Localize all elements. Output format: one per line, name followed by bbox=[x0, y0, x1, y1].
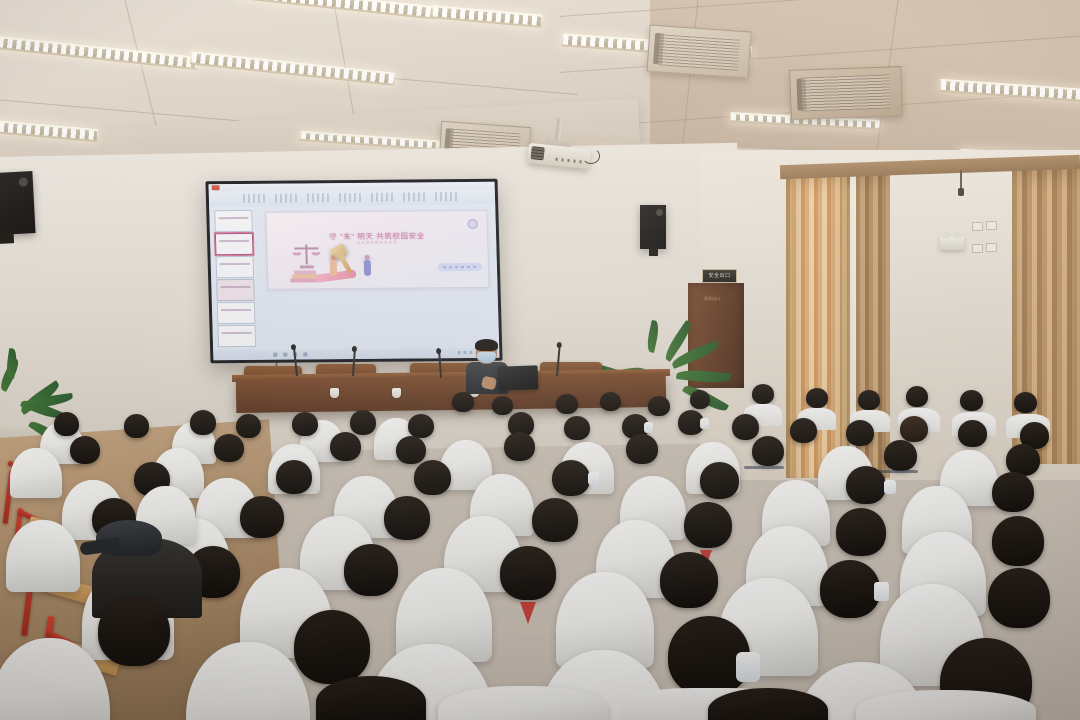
audience-head bbox=[700, 462, 739, 499]
wall-speaker-left bbox=[0, 171, 36, 235]
audience-head bbox=[532, 498, 578, 542]
audience-head bbox=[70, 436, 100, 464]
ac-cassette-vent bbox=[789, 66, 903, 120]
audience-head bbox=[124, 414, 149, 438]
audience-head bbox=[344, 544, 398, 596]
audience-head bbox=[906, 386, 928, 407]
face-mask-icon bbox=[588, 472, 599, 485]
chair-cover bbox=[10, 448, 62, 498]
audience-head bbox=[556, 394, 578, 414]
audience-head bbox=[752, 436, 784, 466]
baseball-cap bbox=[96, 520, 162, 556]
audience-head bbox=[276, 460, 312, 494]
exit-sign-text: 安全出口 bbox=[708, 274, 730, 279]
audience bbox=[0, 370, 1080, 720]
audience-head bbox=[958, 420, 987, 447]
slide-thumbnail-pane[interactable] bbox=[209, 206, 260, 350]
audience-head bbox=[992, 472, 1034, 512]
uniform-collar bbox=[744, 466, 784, 469]
projection-screen: 守 "未" 明天 共筑校园安全 法治宣传教育进校园 bbox=[205, 179, 502, 363]
slide-caption-pill bbox=[438, 263, 482, 271]
screen-surface: 守 "未" 明天 共筑校园安全 法治宣传教育进校园 bbox=[209, 182, 500, 360]
audience-head bbox=[790, 418, 817, 443]
audience-head bbox=[752, 384, 774, 404]
chair-cover bbox=[438, 686, 608, 720]
face-mask-icon bbox=[736, 652, 760, 682]
scales-of-justice-icon bbox=[293, 244, 320, 268]
exit-sign: 安全出口 bbox=[702, 269, 737, 283]
audience-head bbox=[552, 460, 590, 496]
wall-speaker-right bbox=[640, 205, 666, 249]
audience-head bbox=[564, 416, 590, 440]
uniform-collar bbox=[876, 470, 918, 473]
projector-lens bbox=[531, 146, 545, 160]
face-mask-icon bbox=[700, 418, 709, 429]
face-mask-icon bbox=[884, 480, 896, 494]
illustration-figure bbox=[364, 255, 372, 276]
audience-head bbox=[660, 552, 718, 608]
audience-head bbox=[1014, 392, 1037, 413]
face-mask-icon bbox=[874, 582, 889, 601]
powerpoint-logo-icon bbox=[212, 185, 220, 190]
slide-thumbnail[interactable] bbox=[217, 325, 256, 347]
projector-ports bbox=[555, 158, 581, 164]
face-mask-icon bbox=[644, 422, 653, 433]
audience-head bbox=[236, 414, 261, 438]
slide-thumbnail[interactable] bbox=[216, 256, 255, 278]
audience-head bbox=[240, 496, 284, 538]
audience-head bbox=[214, 434, 244, 462]
audience-head bbox=[54, 412, 79, 436]
audience-head bbox=[600, 392, 621, 411]
seal-badge-icon bbox=[468, 219, 478, 229]
audience-head bbox=[992, 516, 1044, 566]
slide-thumbnail[interactable] bbox=[217, 302, 256, 324]
audience-head bbox=[820, 560, 880, 618]
audience-head bbox=[330, 432, 361, 461]
audience-head bbox=[396, 436, 426, 464]
audience-head bbox=[846, 420, 874, 446]
audience-head bbox=[408, 414, 434, 438]
current-slide: 守 "未" 明天 共筑校园安全 法治宣传教育进校园 bbox=[265, 210, 489, 290]
ceiling-hook bbox=[960, 170, 962, 188]
door-label: 紧急出口 bbox=[704, 296, 720, 302]
audience-head bbox=[492, 396, 513, 415]
audience-head bbox=[884, 440, 917, 471]
audience-head bbox=[292, 412, 318, 436]
auditorium-photo: 安全出口 紧急出口 bbox=[0, 0, 1080, 720]
audience-head bbox=[900, 416, 928, 442]
audience-head bbox=[836, 508, 886, 556]
audience-head bbox=[504, 432, 535, 461]
audience-head bbox=[626, 434, 658, 464]
emergency-light-fixture bbox=[940, 236, 964, 250]
wall-socket[interactable] bbox=[972, 244, 983, 253]
audience-head bbox=[690, 390, 710, 409]
audience-head bbox=[190, 410, 216, 435]
audience-head bbox=[988, 568, 1050, 628]
audience-head bbox=[294, 610, 370, 684]
audience-head bbox=[452, 392, 474, 412]
ac-cassette-vent bbox=[646, 24, 751, 78]
illustration-figure bbox=[330, 255, 338, 276]
presenter-hair bbox=[475, 339, 498, 351]
slide-thumbnail-selected[interactable] bbox=[215, 233, 254, 255]
audience-head bbox=[98, 596, 170, 666]
slide-illustration bbox=[289, 242, 386, 283]
audience-head bbox=[316, 676, 426, 720]
chair-cover bbox=[856, 690, 1036, 720]
projector-cable bbox=[582, 148, 600, 164]
audience-head bbox=[384, 496, 430, 540]
slide-thumbnail[interactable] bbox=[216, 279, 255, 301]
wall-socket[interactable] bbox=[986, 243, 997, 252]
audience-head bbox=[500, 546, 556, 600]
wall-socket[interactable] bbox=[986, 221, 997, 230]
slide-thumbnail[interactable] bbox=[214, 210, 253, 232]
red-neckerchief bbox=[520, 602, 536, 624]
audience-head bbox=[648, 396, 670, 416]
slide-editing-stage: 守 "未" 明天 共筑校园安全 法治宣传教育进校园 bbox=[255, 204, 499, 350]
audience-head bbox=[960, 390, 983, 411]
wall-socket[interactable] bbox=[972, 222, 983, 231]
audience-head bbox=[350, 410, 376, 435]
audience-head bbox=[732, 414, 759, 440]
audience-head bbox=[858, 390, 880, 410]
audience-head bbox=[846, 466, 886, 504]
audience-head bbox=[806, 388, 828, 408]
audience-head bbox=[684, 502, 732, 548]
audience-head bbox=[414, 460, 451, 495]
